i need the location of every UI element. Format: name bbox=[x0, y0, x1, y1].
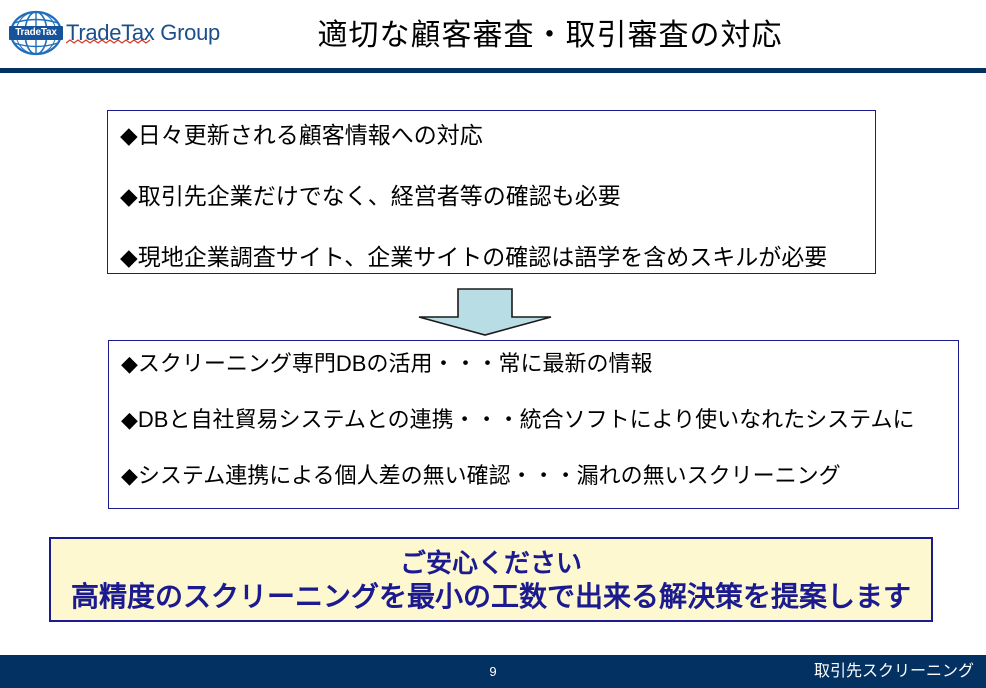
bullet-item: ◆取引先企業だけでなく、経営者等の確認も必要 bbox=[120, 185, 867, 208]
slide-footer: 9 取引先スクリーニング bbox=[0, 655, 986, 688]
bullet-item: ◆DBと自社貿易システムとの連携・・・統合ソフトにより使いなれたシステムに bbox=[121, 409, 950, 431]
page-title: 適切な顧客審査・取引審査の対応 bbox=[200, 10, 900, 54]
bullet-item: ◆現地企業調査サイト、企業サイトの確認は語学を含めスキルが必要 bbox=[120, 246, 867, 269]
slide-header: TradeTax TradeTax Group 適切な顧客審査・取引審査の対応 bbox=[0, 0, 986, 68]
bullet-item: ◆スクリーニング専門DBの活用・・・常に最新の情報 bbox=[121, 353, 950, 375]
reassurance-callout: ご安心ください 高精度のスクリーニングを最小の工数で出来る解決策を提案します bbox=[49, 537, 933, 622]
bullet-item: ◆日々更新される顧客情報への対応 bbox=[120, 124, 867, 147]
footer-section-label: 取引先スクリーニング bbox=[814, 655, 974, 688]
logo-badge-text: TradeTax bbox=[9, 26, 63, 40]
globe-icon: TradeTax bbox=[8, 8, 64, 58]
problem-box: ◆日々更新される顧客情報への対応 ◆取引先企業だけでなく、経営者等の確認も必要 … bbox=[107, 110, 876, 274]
underline-squiggle-icon bbox=[66, 39, 152, 44]
solution-box: ◆スクリーニング専門DBの活用・・・常に最新の情報 ◆DBと自社貿易システムとの… bbox=[108, 340, 959, 509]
logo: TradeTax TradeTax Group bbox=[8, 7, 208, 59]
bullet-item: ◆システム連携による個人差の無い確認・・・漏れの無いスクリーニング bbox=[121, 465, 950, 487]
callout-body: 高精度のスクリーニングを最小の工数で出来る解決策を提案します bbox=[71, 579, 911, 614]
callout-headline: ご安心ください bbox=[400, 547, 582, 580]
logo-wordmark: TradeTax Group bbox=[66, 20, 220, 46]
header-divider bbox=[0, 68, 986, 73]
down-arrow-icon bbox=[418, 288, 552, 336]
slide-canvas: TradeTax TradeTax Group 適切な顧客審査・取引審査の対応 … bbox=[0, 0, 986, 688]
